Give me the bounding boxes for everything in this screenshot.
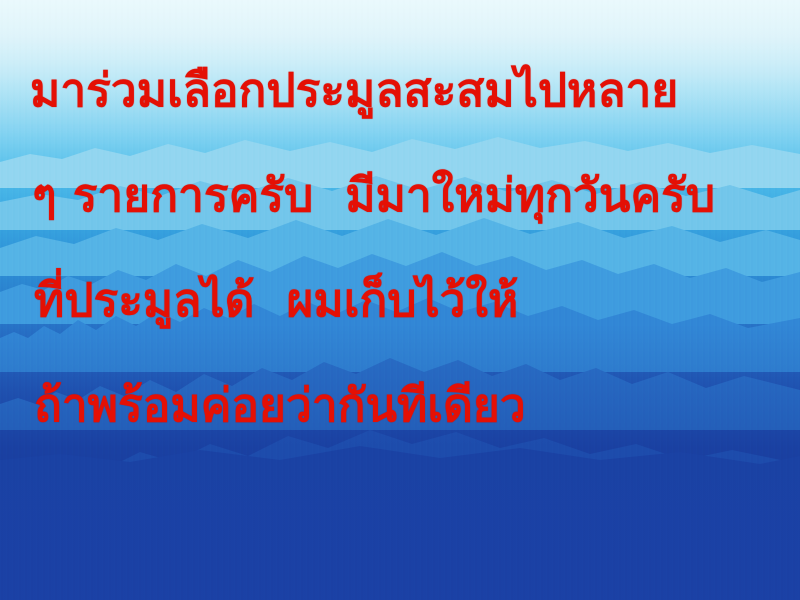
message-line-2: ๆ รายการครับ มีมาใหม่ทุกวันครับ [28, 143, 800, 248]
message-line-3: ที่ประมูลได้ ผมเก็บไว้ให้ [28, 248, 800, 353]
promo-banner: มาร่วมเลือกประมูลสะสมไปหลาย ๆ รายการครับ… [0, 0, 800, 600]
message-line-1: มาร่วมเลือกประมูลสะสมไปหลาย [28, 38, 800, 143]
message-line-4: ถ้าพร้อมค่อยว่ากันทีเดียว [28, 353, 800, 458]
message-overlay: มาร่วมเลือกประมูลสะสมไปหลาย ๆ รายการครับ… [0, 0, 800, 600]
